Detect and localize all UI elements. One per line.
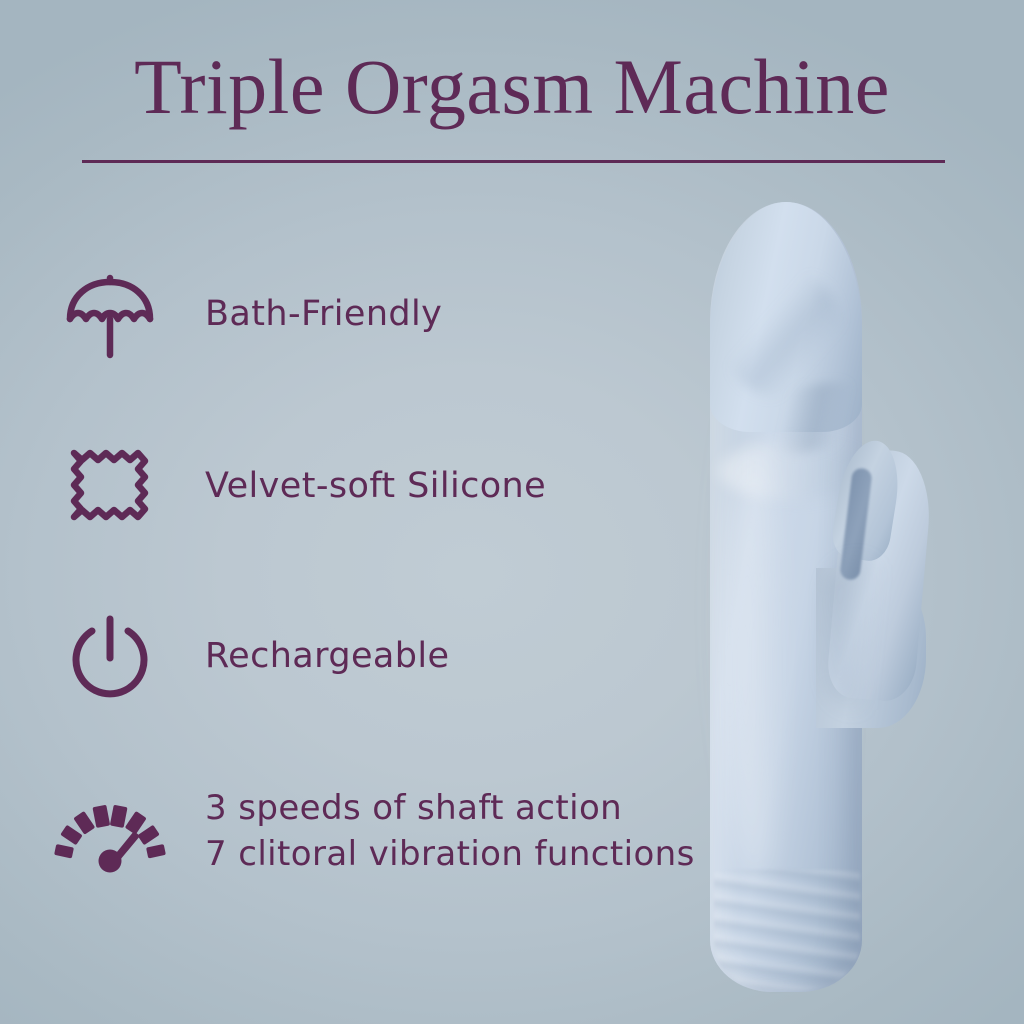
feature-label-line: Rechargeable [205,633,449,680]
promo-graphic: Triple Orgasm Machine Bath-Friendly [0,0,1024,1024]
fabric-swatch-icon [62,441,158,537]
speedometer-icon [62,791,158,887]
title-block: Triple Orgasm Machine [0,48,1024,126]
feature-label-line: 7 clitoral vibration functions [205,831,695,877]
feature-row: Velvet-soft Silicone [0,425,700,595]
feature-label: Velvet-soft Silicone [205,463,546,510]
feature-list: Bath-Friendly Velvet-soft Silicone [0,255,700,935]
feature-label-line: Bath-Friendly [205,291,442,338]
product-highlight [728,450,784,880]
umbrella-icon [62,269,158,365]
product-image [640,150,1024,1024]
feature-label-line: 3 speeds of shaft action [205,785,695,831]
feature-row: 3 speeds of shaft action 7 clitoral vibr… [0,765,700,935]
page-title: Triple Orgasm Machine [0,48,1024,126]
product-arm-shadow [828,560,892,710]
feature-label-line: Velvet-soft Silicone [205,463,546,510]
feature-label: 3 speeds of shaft action 7 clitoral vibr… [205,785,695,877]
feature-label: Rechargeable [205,633,449,680]
product-base-ridges [714,870,860,990]
feature-row: Rechargeable [0,595,700,765]
power-icon [62,611,158,707]
feature-row: Bath-Friendly [0,255,700,425]
feature-label: Bath-Friendly [205,291,442,338]
